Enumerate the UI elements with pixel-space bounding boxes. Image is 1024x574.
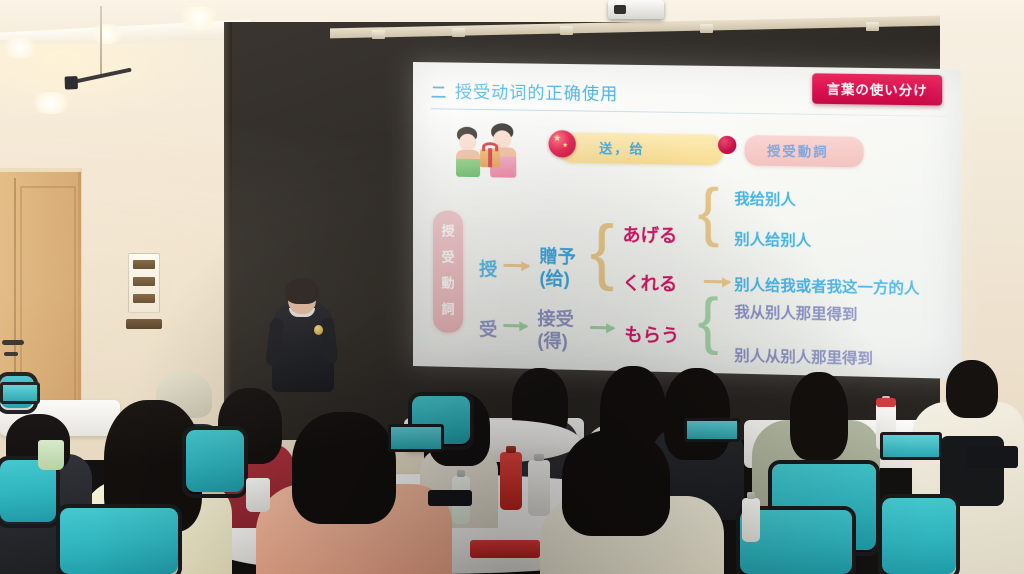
teacher-badge bbox=[314, 325, 323, 335]
chair-front-left[interactable] bbox=[60, 508, 178, 574]
paper-cup[interactable] bbox=[246, 478, 270, 512]
thermos-red[interactable] bbox=[500, 452, 522, 510]
chair-right-lower[interactable] bbox=[882, 498, 956, 574]
phone-on-desk[interactable] bbox=[428, 490, 472, 506]
pencil-case-red[interactable] bbox=[470, 540, 540, 558]
student-front-right-cream bbox=[540, 430, 724, 574]
bottle-small[interactable] bbox=[742, 498, 760, 542]
classroom-screenshot: 二 授受动词的正确使用 言葉の使い分け bbox=[0, 0, 1024, 574]
foreground-people bbox=[0, 0, 1024, 574]
thermos-white[interactable] bbox=[528, 460, 550, 516]
laptop-right[interactable] bbox=[880, 432, 942, 460]
teacher-hair bbox=[285, 278, 319, 304]
green-cup[interactable] bbox=[38, 440, 64, 470]
laptop-back-center[interactable] bbox=[388, 424, 444, 452]
laptop-back-right[interactable] bbox=[684, 418, 740, 442]
laptop-far-left[interactable] bbox=[0, 382, 40, 404]
bottle-cap[interactable] bbox=[876, 398, 896, 407]
chair-mid-left[interactable] bbox=[186, 430, 244, 492]
device-right[interactable] bbox=[966, 446, 1018, 468]
